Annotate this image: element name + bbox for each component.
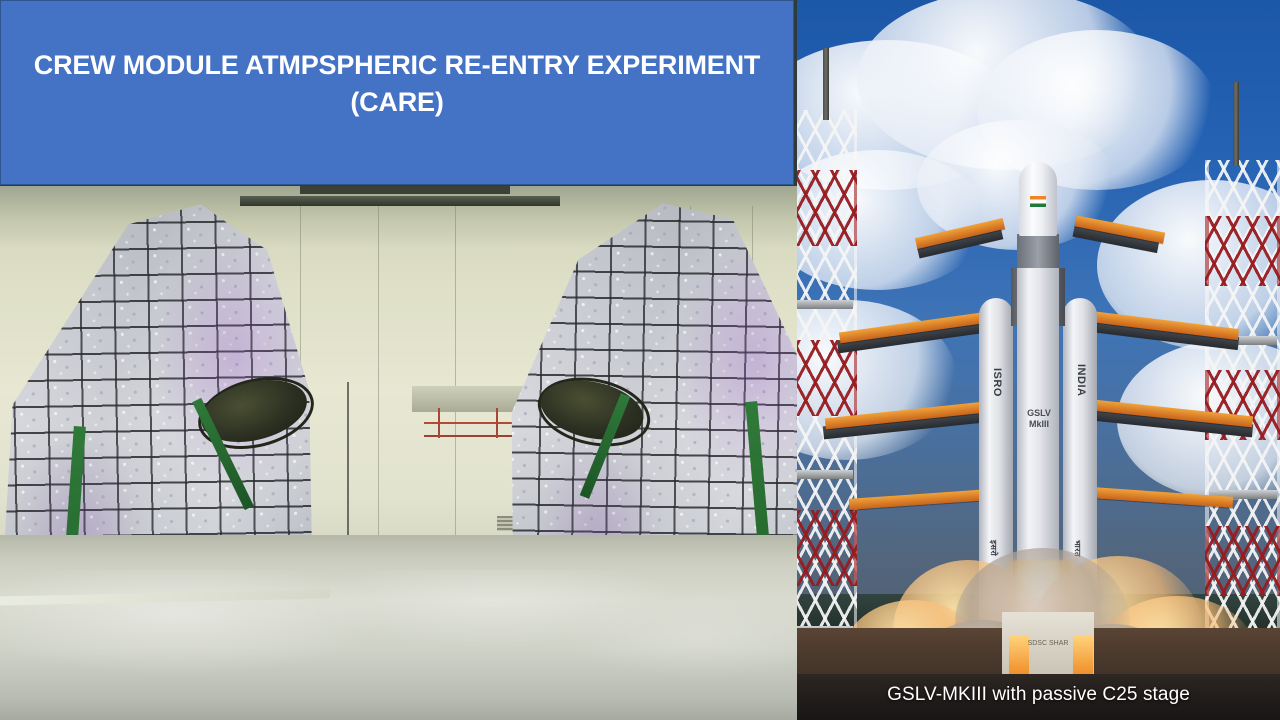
gslv-mk3-launch-photo: ISRO INDIA GSLV MkIII इसरो भारत SDSC SHA… [797,0,1280,720]
floor-reflection [0,570,797,720]
slide-title-line1: CREW MODULE ATMPSPHERIC RE-ENTRY EXPERIM… [34,50,760,80]
core-stage-label-line2: MkIII [1023,419,1055,429]
pad-building-label: SDSC SHAR [1002,640,1094,647]
railing-post [496,408,498,438]
tower-platform [797,300,853,309]
slide-title-banner: CREW MODULE ATMPSPHERIC RE-ENTRY EXPERIM… [0,0,794,185]
launch-photo-caption: GSLV-MKIII with passive C25 stage [797,684,1280,706]
rocket-core-adapter [1017,234,1059,268]
tower-platform [797,470,853,479]
launch-tower-left [797,110,857,670]
booster-label-isro-hindi: इसरो [988,540,999,556]
tower-red-band [1205,216,1280,286]
railing-post [438,408,440,438]
ceiling-beam [240,196,560,206]
booster-label-india: INDIA [1075,364,1087,396]
tower-red-band [1205,526,1280,596]
indian-flag-marking [1030,196,1046,207]
wall-panel-joint [378,206,379,536]
tower-red-band [797,170,857,246]
ceiling-beam-secondary [300,186,510,194]
booster-label-isro: ISRO [991,368,1003,397]
core-stage-label-line1: GSLV [1023,408,1055,418]
tower-red-band [797,510,857,586]
presentation-slide: ISRO INDIA GSLV MkIII इसरो भारत SDSC SHA… [0,0,1280,720]
slide-title-line2: (CARE) [350,87,443,117]
crew-module-cleanroom-photo [0,186,797,720]
tower-lightning-mast [1233,82,1239,166]
slide-title: CREW MODULE ATMPSPHERIC RE-ENTRY EXPERIM… [17,47,777,139]
wall-panel-joint [455,206,456,536]
tower-lightning-mast [823,48,829,120]
